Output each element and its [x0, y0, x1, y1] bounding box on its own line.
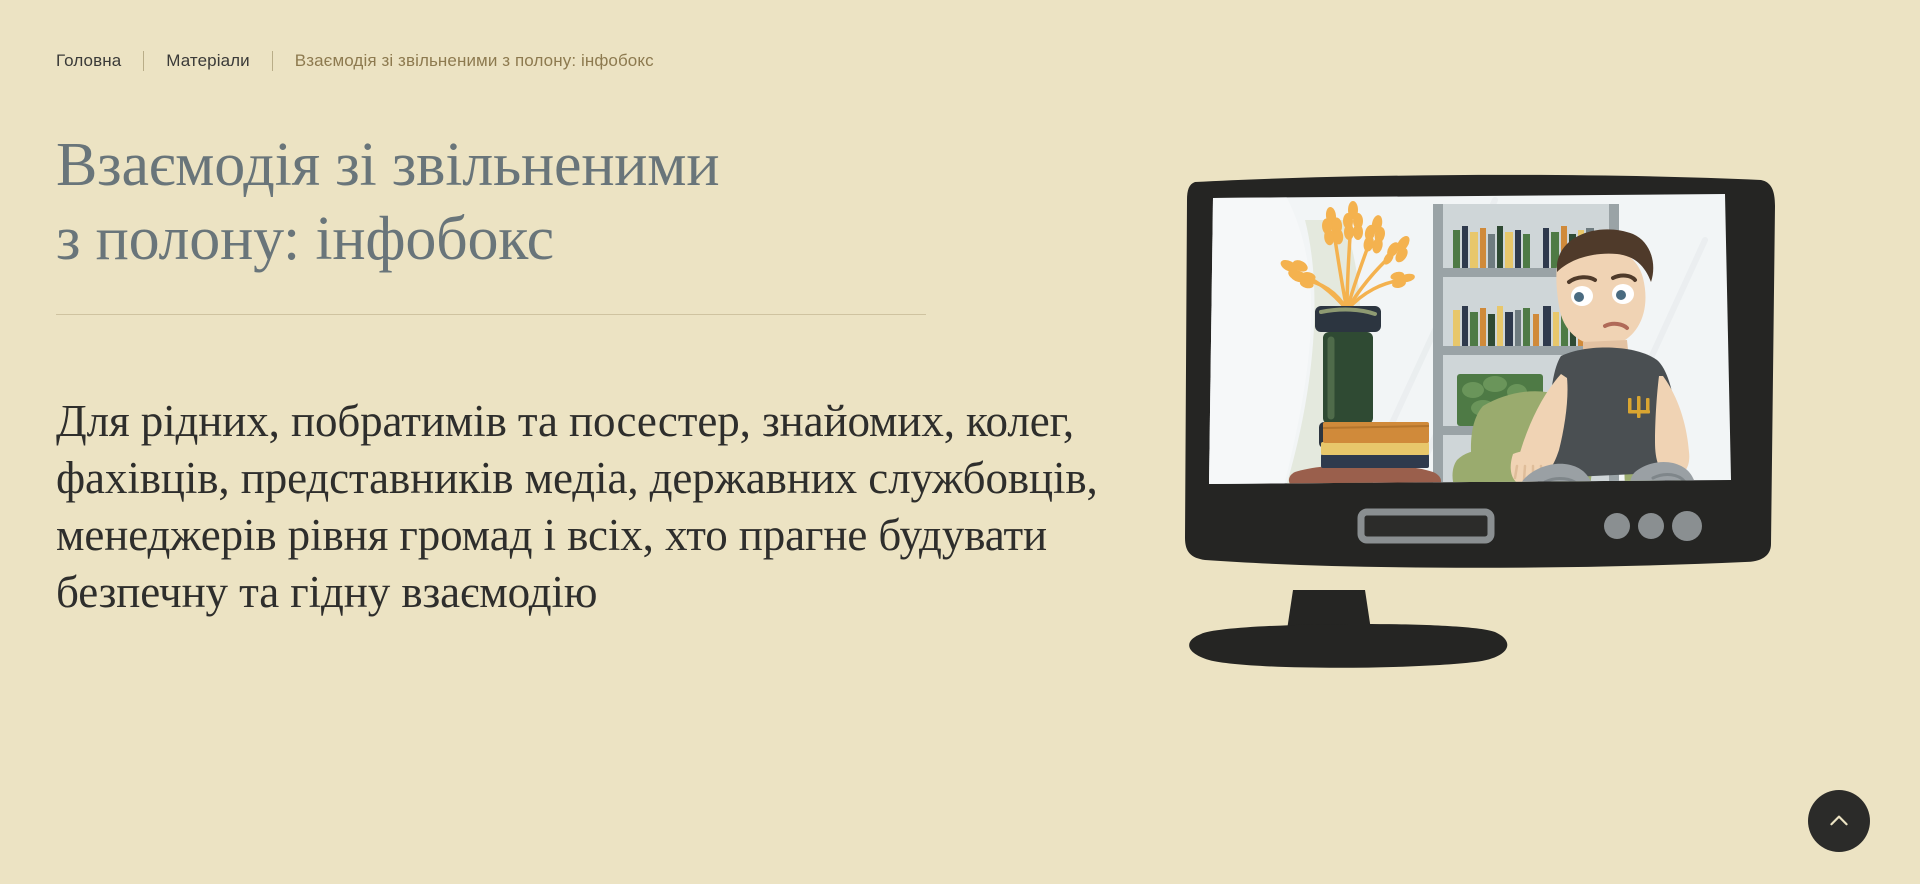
chevron-up-icon: [1826, 808, 1852, 834]
breadcrumb: Головна Матеріали Взаємодія зі звільнени…: [56, 50, 654, 72]
scroll-to-top-button[interactable]: [1808, 790, 1870, 852]
title-divider: [56, 314, 926, 315]
breadcrumb-item-current: Взаємодія зі звільненими з полону: інфоб…: [295, 50, 654, 72]
page-title-line-2: з полону: інфобокс: [56, 205, 554, 273]
tv-screen: [1205, 188, 1739, 496]
page-title-line-1: Взаємодія зі звільненими: [56, 131, 719, 199]
tv-illustration-svg: [1165, 160, 1845, 720]
page-title: Взаємодія зі звільненими з полону: інфоб…: [56, 128, 936, 276]
tv-stand: [1189, 590, 1507, 668]
breadcrumb-separator: [143, 51, 144, 71]
content-column: Взаємодія зі звільненими з полону: інфоб…: [56, 128, 1116, 621]
breadcrumb-separator: [272, 51, 273, 71]
breadcrumb-item-materials[interactable]: Матеріали: [166, 50, 250, 72]
tv-illustration: [1165, 160, 1845, 720]
breadcrumb-item-home[interactable]: Головна: [56, 50, 121, 72]
page-lede: Для рідних, побратимів та посестер, знай…: [56, 393, 1106, 621]
page-root: Головна Матеріали Взаємодія зі звільнени…: [0, 0, 1920, 884]
book-stack: [1321, 422, 1429, 468]
